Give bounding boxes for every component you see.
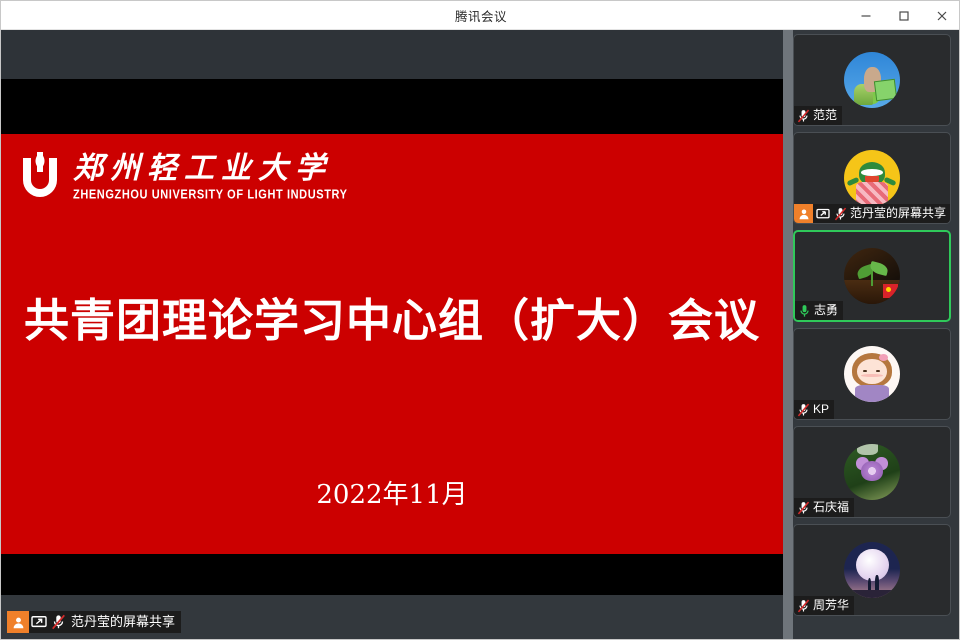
participant-name-chip: 志勇	[795, 301, 843, 320]
university-name-cn: 郑州轻工业大学	[73, 152, 348, 186]
slide-title: 共青团理论学习中心组（扩大）会议	[1, 284, 783, 349]
university-emblem-icon	[17, 152, 63, 202]
screen-share-icon	[29, 615, 49, 629]
host-person-icon	[7, 611, 29, 633]
share-status-chip: 范丹莹的屏幕共享	[7, 611, 181, 633]
participant-name: 周芳华	[811, 596, 854, 615]
participant-name: 范丹莹的屏幕共享	[848, 204, 951, 223]
participant-name-chip: 范丹莹的屏幕共享	[794, 204, 950, 223]
slide-date: 2022年11月	[1, 474, 783, 511]
participant-tile[interactable]: 周芳华	[793, 524, 951, 616]
window-title: 腾讯会议	[455, 6, 507, 25]
screen-share-icon	[813, 208, 831, 220]
meeting-body: 郑州轻工业大学 ZHENGZHOU UNIVERSITY OF LIGHT IN…	[1, 30, 959, 640]
mic-muted-icon	[831, 207, 848, 221]
title-bar: 腾讯会议	[1, 1, 960, 30]
avatar	[844, 52, 900, 108]
participant-name: 志勇	[812, 301, 843, 320]
avatar	[844, 150, 900, 206]
mic-muted-icon	[794, 403, 811, 417]
participant-name: KP	[811, 400, 834, 419]
tencent-meeting-window: 腾讯会议	[0, 0, 960, 640]
participant-tile[interactable]: KP	[793, 328, 951, 420]
avatar	[844, 346, 900, 402]
avatar	[844, 444, 900, 500]
presentation-slide: 郑州轻工业大学 ZHENGZHOU UNIVERSITY OF LIGHT IN…	[1, 134, 783, 554]
share-status-label: 范丹莹的屏幕共享	[68, 611, 181, 633]
participant-tile-active[interactable]: 志勇	[793, 230, 951, 322]
university-logo: 郑州轻工业大学 ZHENGZHOU UNIVERSITY OF LIGHT IN…	[17, 152, 348, 202]
participant-name: 范范	[811, 106, 842, 125]
avatar	[844, 542, 900, 598]
university-name-block: 郑州轻工业大学 ZHENGZHOU UNIVERSITY OF LIGHT IN…	[73, 152, 348, 201]
mic-muted-icon	[794, 109, 811, 123]
university-name-en: ZHENGZHOU UNIVERSITY OF LIGHT INDUSTRY	[73, 188, 348, 203]
close-icon[interactable]	[923, 1, 960, 30]
host-person-icon	[794, 204, 813, 223]
participant-tile[interactable]: 石庆福	[793, 426, 951, 518]
participant-tile[interactable]: 范范	[793, 34, 951, 126]
shared-screen-stage[interactable]: 郑州轻工业大学 ZHENGZHOU UNIVERSITY OF LIGHT IN…	[1, 30, 783, 640]
participant-name-chip: 石庆福	[794, 498, 854, 517]
maximize-icon[interactable]	[885, 1, 923, 30]
avatar	[844, 248, 900, 304]
panel-divider[interactable]	[783, 30, 793, 640]
mic-muted-icon	[49, 614, 68, 630]
participant-name-chip: KP	[794, 400, 834, 419]
mic-muted-icon	[794, 501, 811, 515]
participant-name-chip: 周芳华	[794, 596, 854, 615]
participant-tile[interactable]: 范丹莹的屏幕共享	[793, 132, 951, 224]
participant-name: 石庆福	[811, 498, 854, 517]
participant-name-chip: 范范	[794, 106, 842, 125]
mic-unmuted-icon	[795, 304, 812, 318]
window-controls	[847, 1, 960, 30]
share-status-bar: 范丹莹的屏幕共享	[1, 595, 783, 640]
minimize-icon[interactable]	[847, 1, 885, 30]
mic-muted-icon	[794, 599, 811, 613]
participant-sidebar[interactable]: 范范	[793, 30, 959, 640]
